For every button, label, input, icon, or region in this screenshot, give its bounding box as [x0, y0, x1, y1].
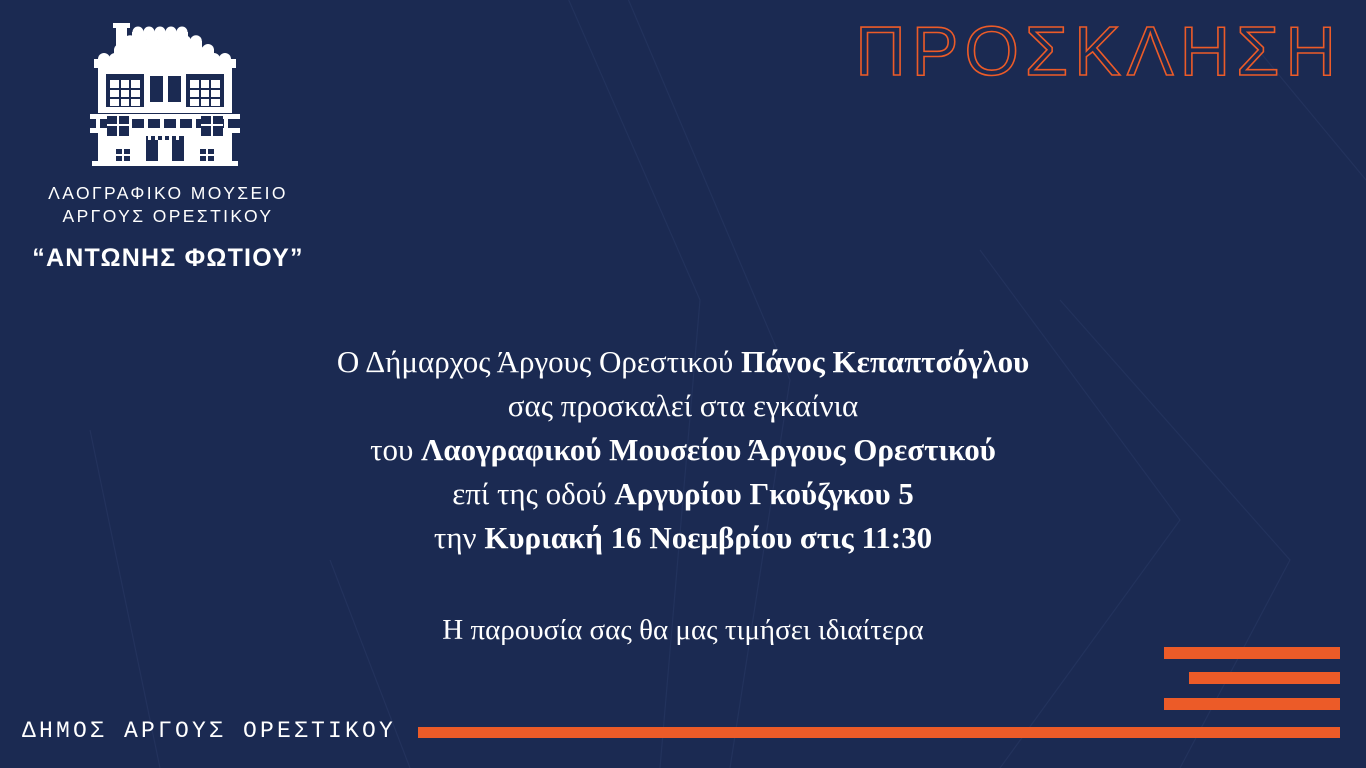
invitation-text: επί της οδού [452, 476, 614, 511]
invitation-line: του Λαογραφικού Μουσείου Άργους Ορεστικο… [0, 428, 1366, 472]
traditional-house-icon [80, 18, 250, 168]
invitation-text: σας προσκαλεί στα εγκαίνια [508, 388, 858, 423]
invitation-text: του [370, 432, 421, 467]
accent-bar-2 [1189, 672, 1340, 684]
museum-name: ΛΑΟΓΡΑΦΙΚΟ ΜΟΥΣΕΙΟ ΑΡΓΟΥΣ ΟΡΕΣΤΙΚΟΥ [18, 182, 318, 228]
museum-name-line-2: ΑΡΓΟΥΣ ΟΡΕΣΤΙΚΟΥ [18, 205, 318, 228]
municipality-label: ΔΗΜΟΣ ΑΡΓΟΥΣ ΟΡΕΣΤΙΚΟΥ [22, 718, 396, 744]
invitation-body: Ο Δήμαρχος Άργους Ορεστικού Πάνος Κεπαπτ… [0, 340, 1366, 560]
invitation-poster: ΛΑΟΓΡΑΦΙΚΟ ΜΟΥΣΕΙΟ ΑΡΓΟΥΣ ΟΡΕΣΤΙΚΟΥ “ΑΝΤ… [0, 0, 1366, 768]
invitation-emphasis: Αργυρίου Γκούζγκου 5 [614, 476, 913, 511]
accent-bar-3 [1164, 698, 1340, 710]
museum-name-line-1: ΛΑΟΓΡΑΦΙΚΟ ΜΟΥΣΕΙΟ [18, 182, 318, 205]
closing-message: Η παρουσία σας θα μας τιμήσει ιδιαίτερα [0, 608, 1366, 652]
invitation-emphasis: Πάνος Κεπαπτσόγλου [741, 344, 1029, 379]
footer-accent-bar [418, 727, 1340, 738]
invitation-text: Ο Δήμαρχος Άργους Ορεστικού [337, 344, 741, 379]
accent-bar-1 [1164, 647, 1340, 659]
invitation-line: επί της οδού Αργυρίου Γκούζγκου 5 [0, 472, 1366, 516]
page-title-text: ΠΡΟΣΚΛΗΣΗ [855, 16, 1342, 86]
invitation-emphasis: Κυριακή 16 Νοεμβρίου στις 11:30 [484, 520, 932, 555]
invitation-text: την [434, 520, 484, 555]
museum-quote-name: “ΑΝΤΩΝΗΣ ΦΩΤΙΟΥ” [18, 244, 318, 273]
invitation-line: Ο Δήμαρχος Άργους Ορεστικού Πάνος Κεπαπτ… [0, 340, 1366, 384]
invitation-line: σας προσκαλεί στα εγκαίνια [0, 384, 1366, 428]
museum-logo-block: ΛΑΟΓΡΑΦΙΚΟ ΜΟΥΣΕΙΟ ΑΡΓΟΥΣ ΟΡΕΣΤΙΚΟΥ “ΑΝΤ… [18, 18, 318, 273]
invitation-line: την Κυριακή 16 Νοεμβρίου στις 11:30 [0, 516, 1366, 560]
invitation-emphasis: Λαογραφικού Μουσείου Άργους Ορεστικού [421, 432, 996, 467]
page-title: ΠΡΟΣΚΛΗΣΗ [855, 16, 1342, 86]
